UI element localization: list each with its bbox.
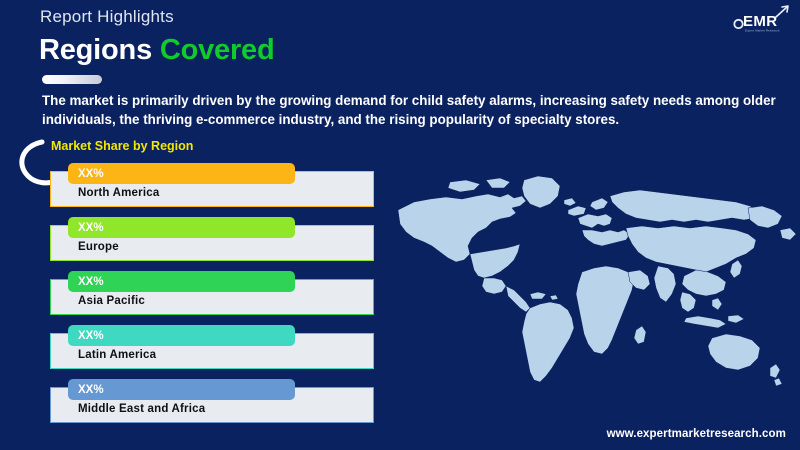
region-row[interactable]: North America XX% [50, 163, 376, 209]
region-bar[interactable]: XX% [68, 325, 295, 346]
footer-website[interactable]: www.expertmarketresearch.com [607, 428, 786, 440]
region-percent: XX% [78, 276, 104, 288]
region-row[interactable]: Asia Pacific XX% [50, 271, 376, 317]
region-percent: XX% [78, 330, 104, 342]
lede-paragraph: The market is primarily driven by the gr… [42, 91, 782, 129]
page-title-word-2: Covered [160, 34, 275, 66]
world-map [396, 172, 800, 402]
region-label: Europe [78, 241, 119, 253]
region-bar[interactable]: XX% [68, 271, 295, 292]
region-bar[interactable]: XX% [68, 217, 295, 238]
region-label: Middle East and Africa [78, 403, 205, 415]
region-label: North America [78, 187, 159, 199]
slide-root: Report Highlights Regions Covered The ma… [0, 0, 800, 450]
region-bar[interactable]: XX% [68, 379, 295, 400]
region-label: Asia Pacific [78, 295, 145, 307]
region-percent: XX% [78, 222, 104, 234]
title-divider [42, 75, 102, 84]
region-row[interactable]: Latin America XX% [50, 325, 376, 371]
page-title-word-1: Regions [39, 34, 152, 66]
region-row[interactable]: Europe XX% [50, 217, 376, 263]
region-share-chart: North America XX% Europe XX% Asia Pacifi… [50, 163, 376, 433]
emr-logo[interactable]: EMR Expert Market Research [730, 4, 792, 34]
page-title: Regions Covered [39, 34, 275, 67]
section-label: Market Share by Region [51, 139, 193, 153]
growth-arrow-icon [776, 6, 788, 17]
region-percent: XX% [78, 168, 104, 180]
region-percent: XX% [78, 384, 104, 396]
svg-text:Expert Market Research: Expert Market Research [745, 28, 780, 32]
region-row[interactable]: Middle East and Africa XX% [50, 379, 376, 425]
eyebrow-label: Report Highlights [40, 7, 174, 27]
region-bar[interactable]: XX% [68, 163, 295, 184]
region-label: Latin America [78, 349, 156, 361]
